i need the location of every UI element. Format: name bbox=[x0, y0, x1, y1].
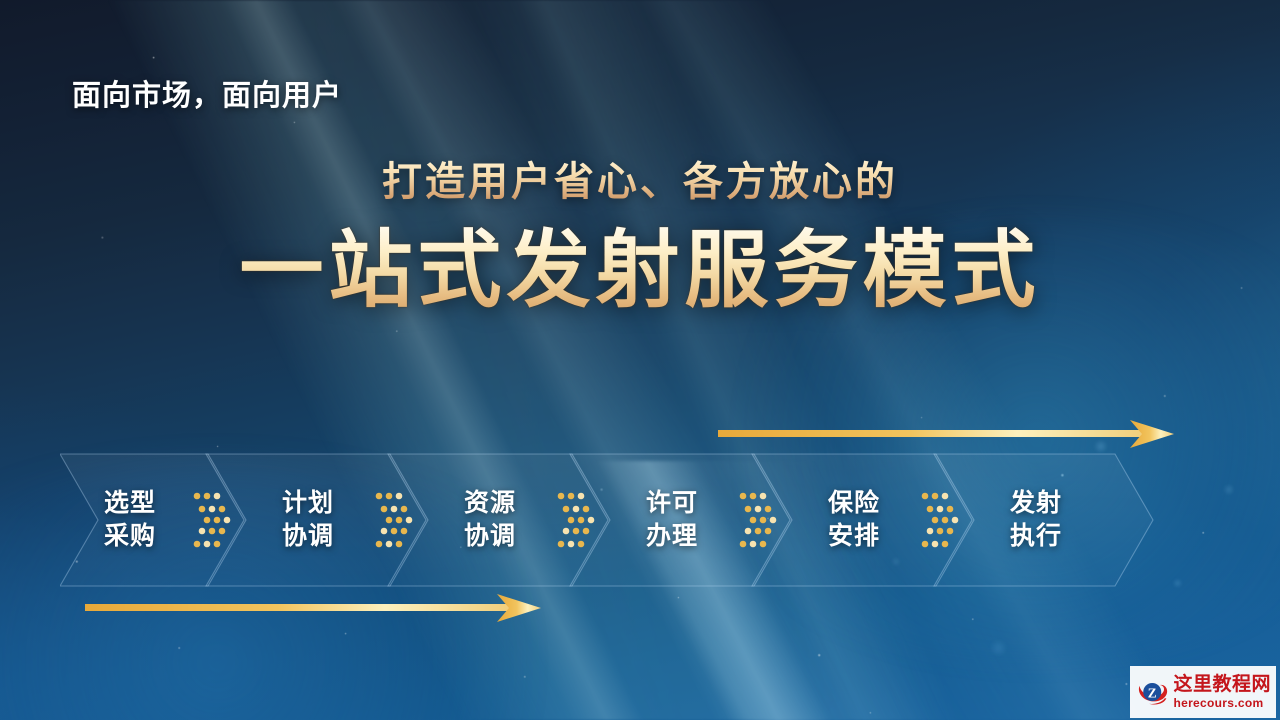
gold-arrow-right-bottom bbox=[79, 592, 549, 624]
slide-subtitle: 打造用户省心、各方放心的 bbox=[0, 160, 1280, 204]
title-block: 打造用户省心、各方放心的 一站式发射服务模式 bbox=[0, 160, 1280, 315]
dotted-chevron-right-icon bbox=[374, 489, 420, 551]
slide-main-title: 一站式发射服务模式 bbox=[0, 226, 1280, 315]
dotted-chevron-right-icon bbox=[192, 489, 238, 551]
process-step-3-line1: 资源 bbox=[464, 487, 516, 520]
process-step-1-line1: 选型 bbox=[104, 487, 156, 520]
process-step-2[interactable]: 计划 协调 bbox=[282, 487, 334, 553]
process-step-6-line2: 执行 bbox=[1010, 520, 1062, 553]
dotted-chevron-right-icon bbox=[920, 489, 966, 551]
process-step-2-line1: 计划 bbox=[282, 487, 334, 520]
process-step-5-line2: 安排 bbox=[828, 520, 880, 553]
presentation-slide: 面向市场，面向用户 打造用户省心、各方放心的 一站式发射服务模式 bbox=[0, 0, 1280, 720]
process-step-5-line1: 保险 bbox=[828, 487, 880, 520]
process-step-1[interactable]: 选型 采购 bbox=[104, 487, 156, 553]
process-step-6-line1: 发射 bbox=[1010, 487, 1062, 520]
watermark-text: 这里教程网 herecours.com bbox=[1173, 675, 1271, 709]
process-step-4-line1: 许可 bbox=[646, 487, 698, 520]
process-step-4[interactable]: 许可 办理 bbox=[646, 487, 698, 553]
dotted-chevron-right-icon bbox=[556, 489, 602, 551]
watermark-logo-letter: Z bbox=[1148, 685, 1157, 700]
process-flow: 选型 采购 计划 协调 资源 协调 许可 办理 保险 安排 发射 执行 bbox=[60, 452, 1170, 588]
process-step-3[interactable]: 资源 协调 bbox=[464, 487, 516, 553]
watermark-site-name: 这里教程网 bbox=[1173, 675, 1271, 694]
process-step-2-line2: 协调 bbox=[282, 520, 334, 553]
watermark-site-url: herecours.com bbox=[1173, 697, 1271, 709]
watermark-logo-icon: Z bbox=[1135, 670, 1169, 714]
watermark: Z 这里教程网 herecours.com bbox=[1130, 666, 1276, 718]
eyebrow-heading: 面向市场，面向用户 bbox=[72, 72, 342, 114]
process-step-1-line2: 采购 bbox=[104, 520, 156, 553]
process-step-6[interactable]: 发射 执行 bbox=[1010, 487, 1062, 553]
process-step-5[interactable]: 保险 安排 bbox=[828, 487, 880, 553]
process-step-4-line2: 办理 bbox=[646, 520, 698, 553]
process-step-3-line2: 协调 bbox=[464, 520, 516, 553]
gold-arrow-right-top bbox=[712, 418, 1182, 450]
dotted-chevron-right-icon bbox=[738, 489, 784, 551]
